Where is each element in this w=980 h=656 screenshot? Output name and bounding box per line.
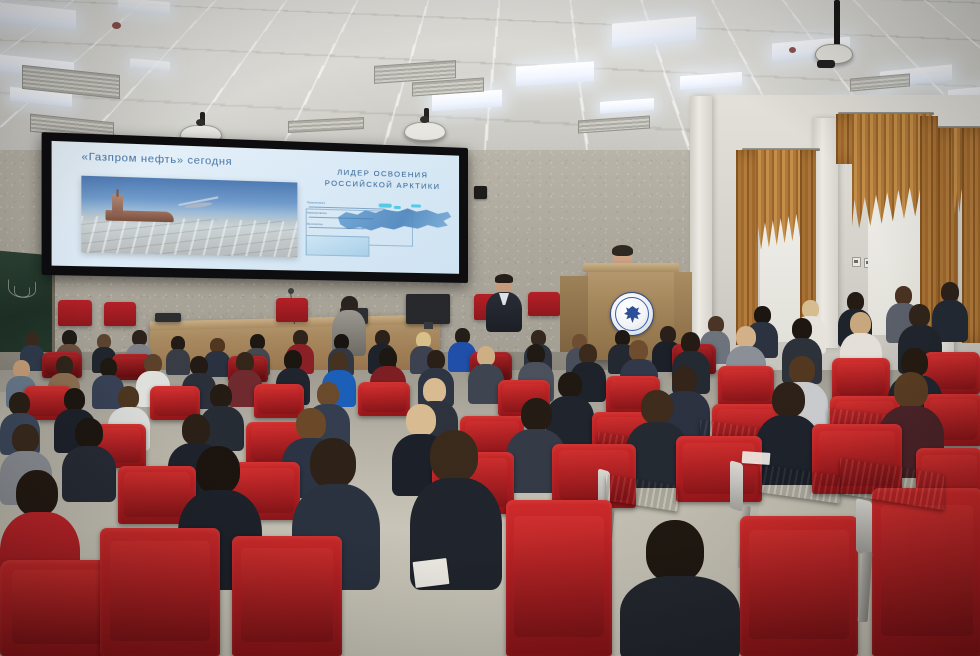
microphone-head	[288, 288, 294, 294]
person-head	[629, 340, 648, 361]
person-head	[850, 312, 871, 335]
arctic-asset-marker	[394, 206, 401, 209]
wall-speaker-icon	[474, 186, 487, 199]
person-head	[236, 352, 254, 372]
presenter-hair	[612, 245, 633, 256]
arctic-asset-marker	[379, 204, 392, 208]
person-head	[379, 348, 397, 368]
auditorium-seat-foreground[interactable]	[740, 516, 858, 656]
ceiling-projector	[404, 122, 446, 141]
person-head	[579, 344, 597, 364]
projector-lens-icon	[420, 116, 429, 123]
person-head	[736, 326, 756, 348]
person-head	[527, 344, 545, 364]
person-head	[672, 366, 697, 393]
map-label: Приразломное	[307, 202, 325, 206]
projector-lens-icon	[196, 119, 205, 126]
desk-monitor	[406, 294, 450, 324]
front-row-chair[interactable]	[58, 300, 92, 326]
person-head	[182, 414, 210, 445]
seat-armrest	[730, 460, 743, 512]
person-head	[12, 424, 39, 453]
person-head	[423, 378, 446, 403]
wall-pilaster	[690, 96, 712, 346]
person-head	[118, 386, 139, 409]
auditorium-seat-foreground[interactable]	[506, 500, 612, 656]
ice-field	[82, 216, 298, 258]
slide-russia-map: Приразломное Новопортовское Мессояхское	[305, 198, 451, 256]
person-head	[284, 350, 302, 370]
person-head	[646, 520, 704, 582]
front-row-chair[interactable]	[528, 292, 560, 316]
person-head	[681, 332, 700, 353]
auditorium-seat-foreground[interactable]	[100, 528, 220, 656]
projection-screen: «Газпром нефть» сегодня ЛИДЕР ОСВОЕНИЯ Р…	[42, 132, 468, 283]
monitor-stand	[424, 322, 433, 329]
person-head	[310, 438, 356, 488]
person-head	[909, 304, 930, 327]
icebreaker-tower	[112, 195, 123, 214]
person-head	[317, 382, 339, 406]
audience-member-foreground	[620, 520, 740, 656]
person-head	[772, 382, 805, 417]
person-body	[620, 576, 740, 656]
presentation-slide: «Газпром нефть» сегодня ЛИДЕР ОСВОЕНИЯ Р…	[52, 141, 459, 274]
person-head	[330, 352, 348, 372]
wall-outlet[interactable]	[852, 257, 861, 267]
lecture-hall-scene: «Газпром нефть» сегодня ЛИДЕР ОСВОЕНИЯ Р…	[0, 0, 980, 656]
person-head	[75, 418, 103, 448]
person-head	[16, 470, 58, 516]
map-label: Мессояхское	[307, 222, 323, 226]
handout-paper[interactable]	[413, 558, 450, 588]
front-row-chair[interactable]	[276, 298, 308, 322]
seated-official	[486, 276, 522, 328]
person-head	[430, 430, 478, 482]
person-head	[477, 346, 495, 366]
icebreaker-mast	[117, 190, 119, 197]
person-head	[789, 356, 815, 384]
map-inset-panel	[305, 235, 369, 257]
projector-lens-icon	[817, 60, 835, 68]
auditorium-seat[interactable]	[676, 436, 762, 502]
person-head	[941, 282, 959, 302]
auditorium-seat-foreground[interactable]	[872, 488, 980, 656]
front-row-chair[interactable]	[104, 302, 136, 326]
desk-equipment	[155, 313, 181, 322]
slide-title: «Газпром нефть» сегодня	[82, 151, 233, 169]
handout-paper[interactable]	[742, 451, 771, 465]
auditorium-seat-foreground[interactable]	[232, 536, 342, 656]
person-head	[641, 390, 673, 424]
seat-armrest	[856, 498, 872, 556]
map-label: Новопортовское	[307, 212, 327, 216]
person-head	[64, 388, 85, 411]
person-head	[894, 372, 928, 408]
person-head	[210, 384, 232, 408]
person-head	[427, 350, 445, 370]
smoke-detector-icon	[112, 22, 121, 29]
person-hair	[495, 274, 513, 283]
person-head	[296, 408, 326, 440]
lectern-top	[583, 263, 679, 272]
slide-arctic-photo	[82, 176, 298, 258]
arctic-asset-marker	[411, 204, 421, 207]
person-head	[9, 392, 30, 415]
person-head	[792, 318, 812, 340]
slide-headline: ЛИДЕР ОСВОЕНИЯ РОССИЙСКОЙ АРКТИКИ	[313, 166, 451, 193]
person-head	[196, 446, 240, 494]
smoke-detector-icon	[789, 47, 796, 53]
person-head	[558, 372, 582, 398]
person-head	[521, 398, 552, 431]
